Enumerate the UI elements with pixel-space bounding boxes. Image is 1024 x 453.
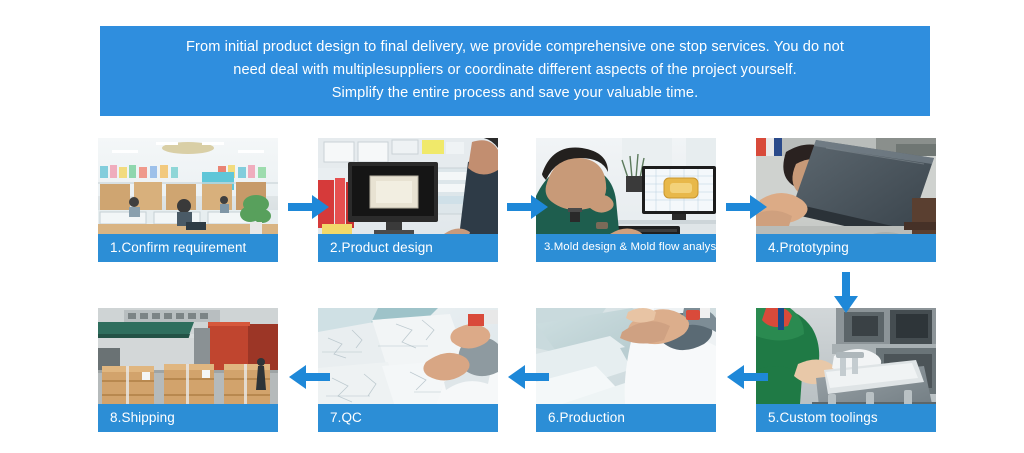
process-step-label-bar-7: 7.QC [318,404,498,432]
process-flow-infographic: From initial product design to final del… [0,0,1024,453]
arrow-step2-to-step3 [507,192,549,222]
process-step-card-7[interactable]: 7.QC [318,308,498,432]
arrow-step5-to-step6 [726,362,768,392]
arrow-step1-to-step2 [288,192,330,222]
process-step-label-bar-4: 4.Prototyping [756,234,936,262]
process-step-card-6[interactable]: 6.Production [536,308,716,432]
process-step-label-bar-1: 1.Confirm requirement [98,234,278,262]
arrow-step6-to-step7 [507,362,549,392]
process-step-label-bar-5: 5.Custom toolings [756,404,936,432]
process-step-label-3: 3.Mold design & Mold flow analysis [544,242,716,253]
process-step-label-bar-6: 6.Production [536,404,716,432]
arrow-step7-to-step8 [288,362,330,392]
process-step-card-5[interactable]: 5.Custom toolings [756,308,936,432]
process-step-card-8[interactable]: 8.Shipping [98,308,278,432]
banner-line-1: From initial product design to final del… [186,36,844,59]
process-step-label-7: 7.QC [330,411,362,425]
process-step-label-6: 6.Production [548,411,625,425]
process-step-label-bar-3: 3.Mold design & Mold flow analysis [536,234,716,262]
process-step-label-1: 1.Confirm requirement [110,241,246,255]
process-step-label-bar-2: 2.Product design [318,234,498,262]
intro-banner: From initial product design to final del… [100,26,930,116]
arrow-step4-to-step5 [831,272,861,314]
process-step-card-4[interactable]: 4.Prototyping [756,138,936,262]
process-step-label-5: 5.Custom toolings [768,411,878,425]
process-step-label-bar-8: 8.Shipping [98,404,278,432]
arrow-step3-to-step4 [726,192,768,222]
process-step-label-2: 2.Product design [330,241,433,255]
process-step-label-4: 4.Prototyping [768,241,849,255]
process-step-card-3[interactable]: 3.Mold design & Mold flow analysis [536,138,716,262]
process-step-card-1[interactable]: 1.Confirm requirement [98,138,278,262]
process-step-card-2[interactable]: 2.Product design [318,138,498,262]
process-step-label-8: 8.Shipping [110,411,175,425]
banner-line-3: Simplify the entire process and save you… [332,82,699,105]
banner-line-2: need deal with multiplesuppliers or coor… [233,59,797,82]
